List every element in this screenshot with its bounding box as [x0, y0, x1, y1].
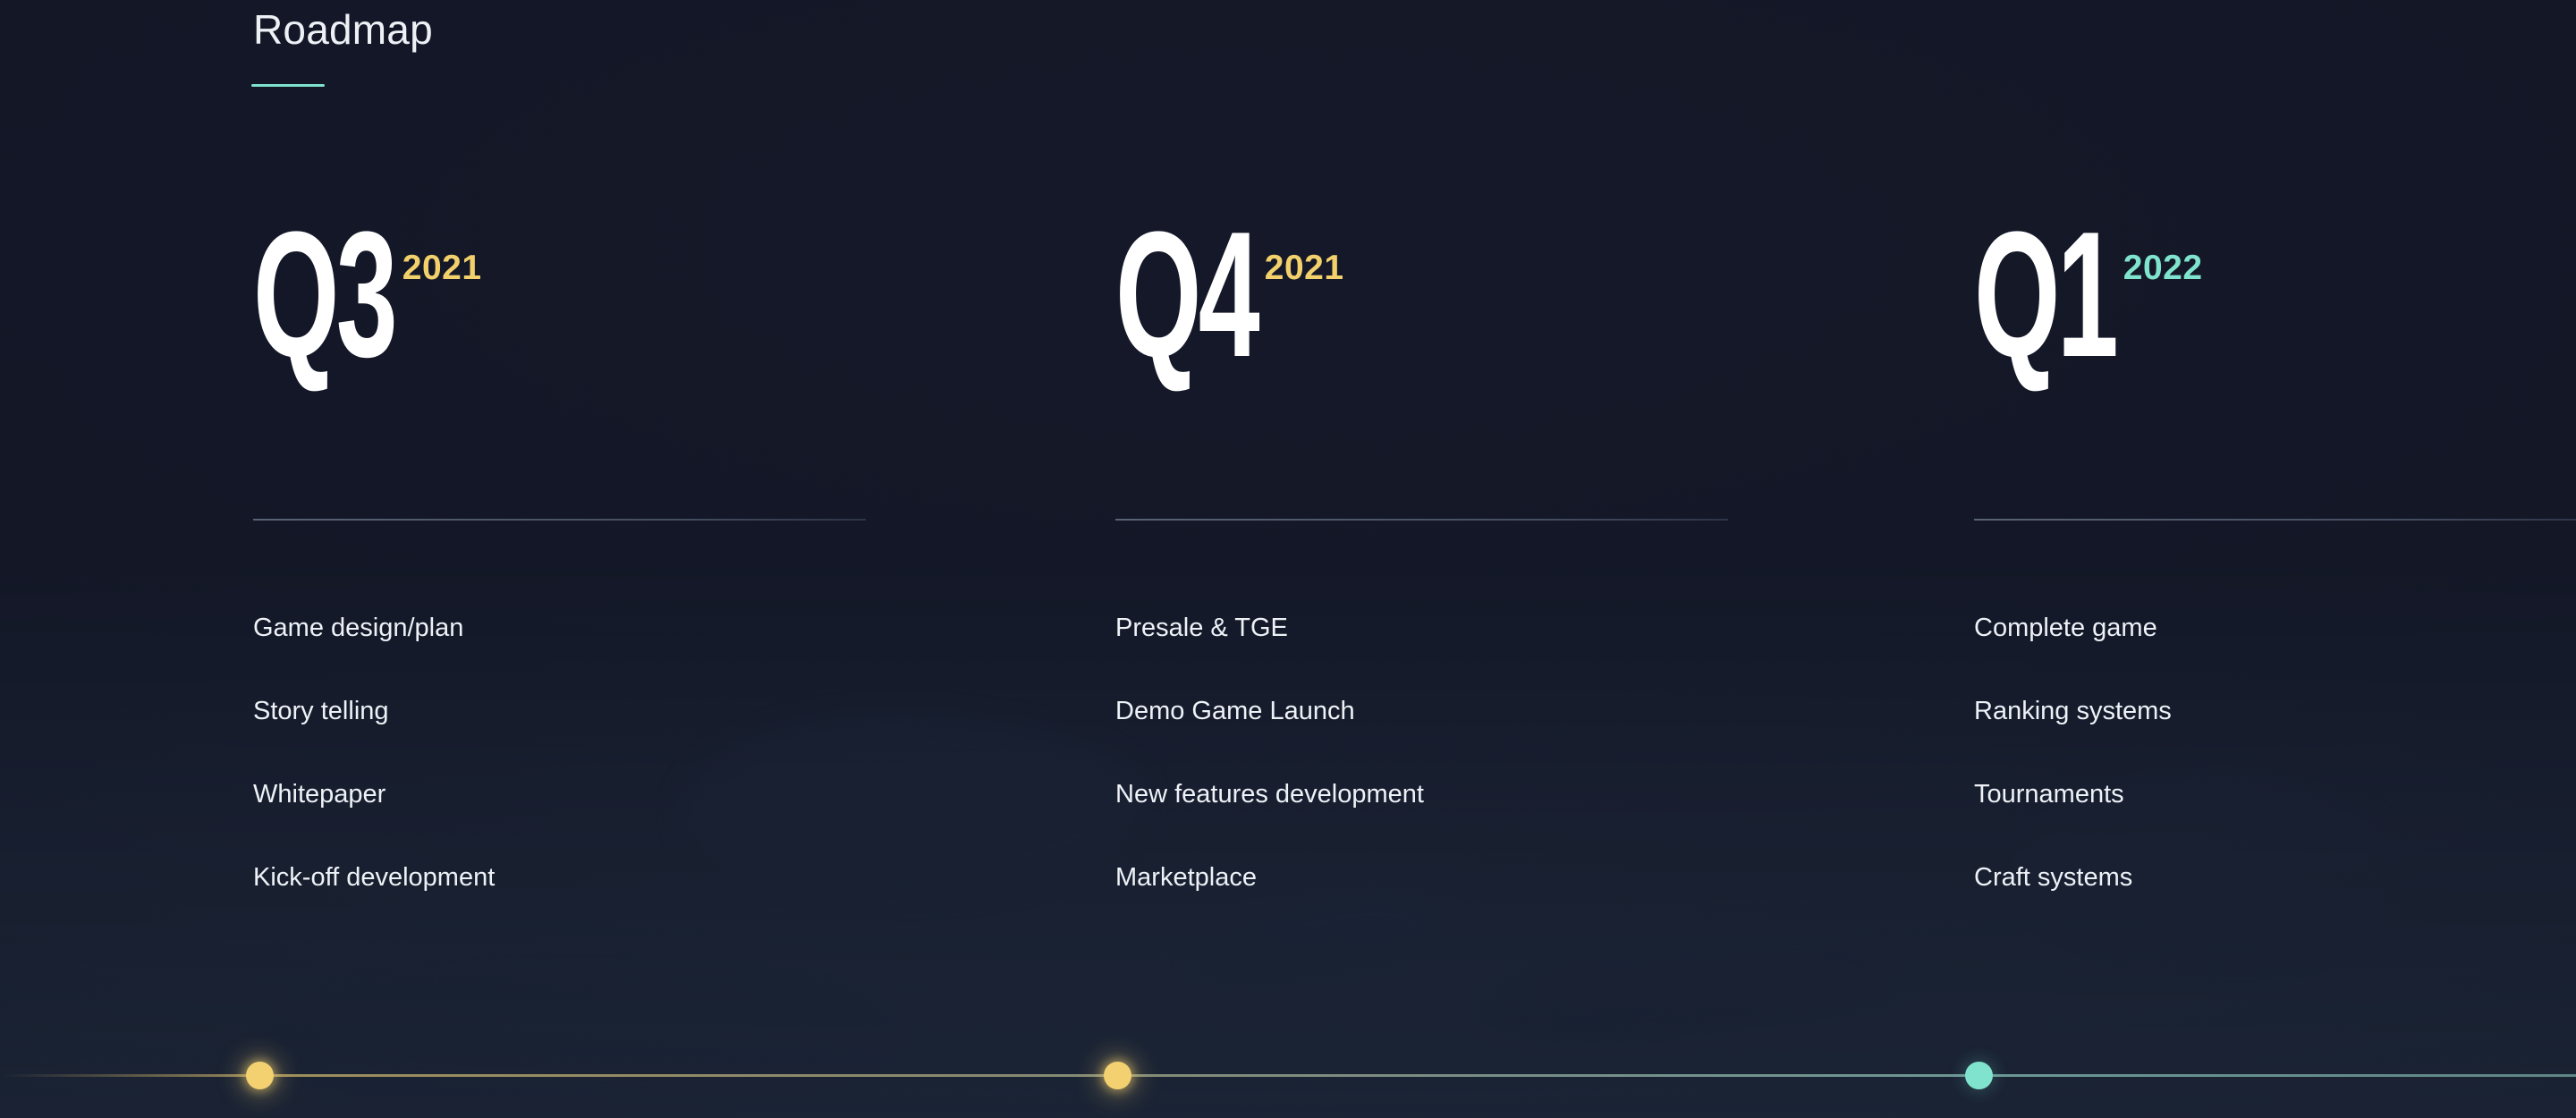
list-item: Game design/plan	[253, 615, 495, 699]
quarter-divider	[253, 519, 866, 521]
timeline-marker-q1-2022[interactable]	[1965, 1062, 1993, 1089]
quarter-label: Q4	[1115, 222, 1257, 368]
timeline-marker-q3-2021[interactable]	[246, 1062, 274, 1089]
quarter-heading: Q4 2021	[1115, 222, 1344, 368]
timeline-marker-q4-2021[interactable]	[1104, 1062, 1131, 1089]
quarter-item-list: Complete game Ranking systems Tournament…	[1974, 615, 2172, 948]
quarter-label: Q3	[253, 222, 394, 368]
list-item: Kick-off development	[253, 865, 495, 948]
quarter-heading: Q3 2021	[253, 222, 482, 368]
title-underline	[251, 84, 325, 87]
list-item: Whitepaper	[253, 782, 495, 865]
quarter-divider	[1115, 519, 1728, 521]
quarter-item-list: Presale & TGE Demo Game Launch New featu…	[1115, 615, 1424, 948]
timeline-track	[0, 1074, 2576, 1077]
quarter-label: Q1	[1974, 222, 2115, 368]
roadmap-section: Roadmap Q3 2021 Game design/plan Story t…	[0, 0, 2576, 1118]
list-item: Presale & TGE	[1115, 615, 1424, 699]
background-landmass-shape-2	[1471, 908, 1910, 1060]
list-item: Tournaments	[1974, 782, 2172, 865]
quarter-year: 2022	[2123, 250, 2203, 285]
list-item: Craft systems	[1974, 865, 2172, 948]
page-title: Roadmap	[253, 7, 433, 53]
list-item: Story telling	[253, 699, 495, 782]
list-item: New features development	[1115, 782, 1424, 865]
quarter-divider	[1974, 519, 2576, 521]
quarter-item-list: Game design/plan Story telling Whitepape…	[253, 615, 495, 948]
list-item: Complete game	[1974, 615, 2172, 699]
background-landmass-shape-5	[268, 975, 894, 1100]
list-item: Marketplace	[1115, 865, 1424, 948]
background-landmass-shape-3	[680, 716, 1145, 894]
list-item: Ranking systems	[1974, 699, 2172, 782]
quarter-year: 2021	[1265, 250, 1344, 285]
quarter-heading: Q1 2022	[1974, 222, 2203, 368]
background-vignette	[0, 0, 2576, 1118]
quarter-year: 2021	[402, 250, 482, 285]
list-item: Demo Game Launch	[1115, 699, 1424, 782]
